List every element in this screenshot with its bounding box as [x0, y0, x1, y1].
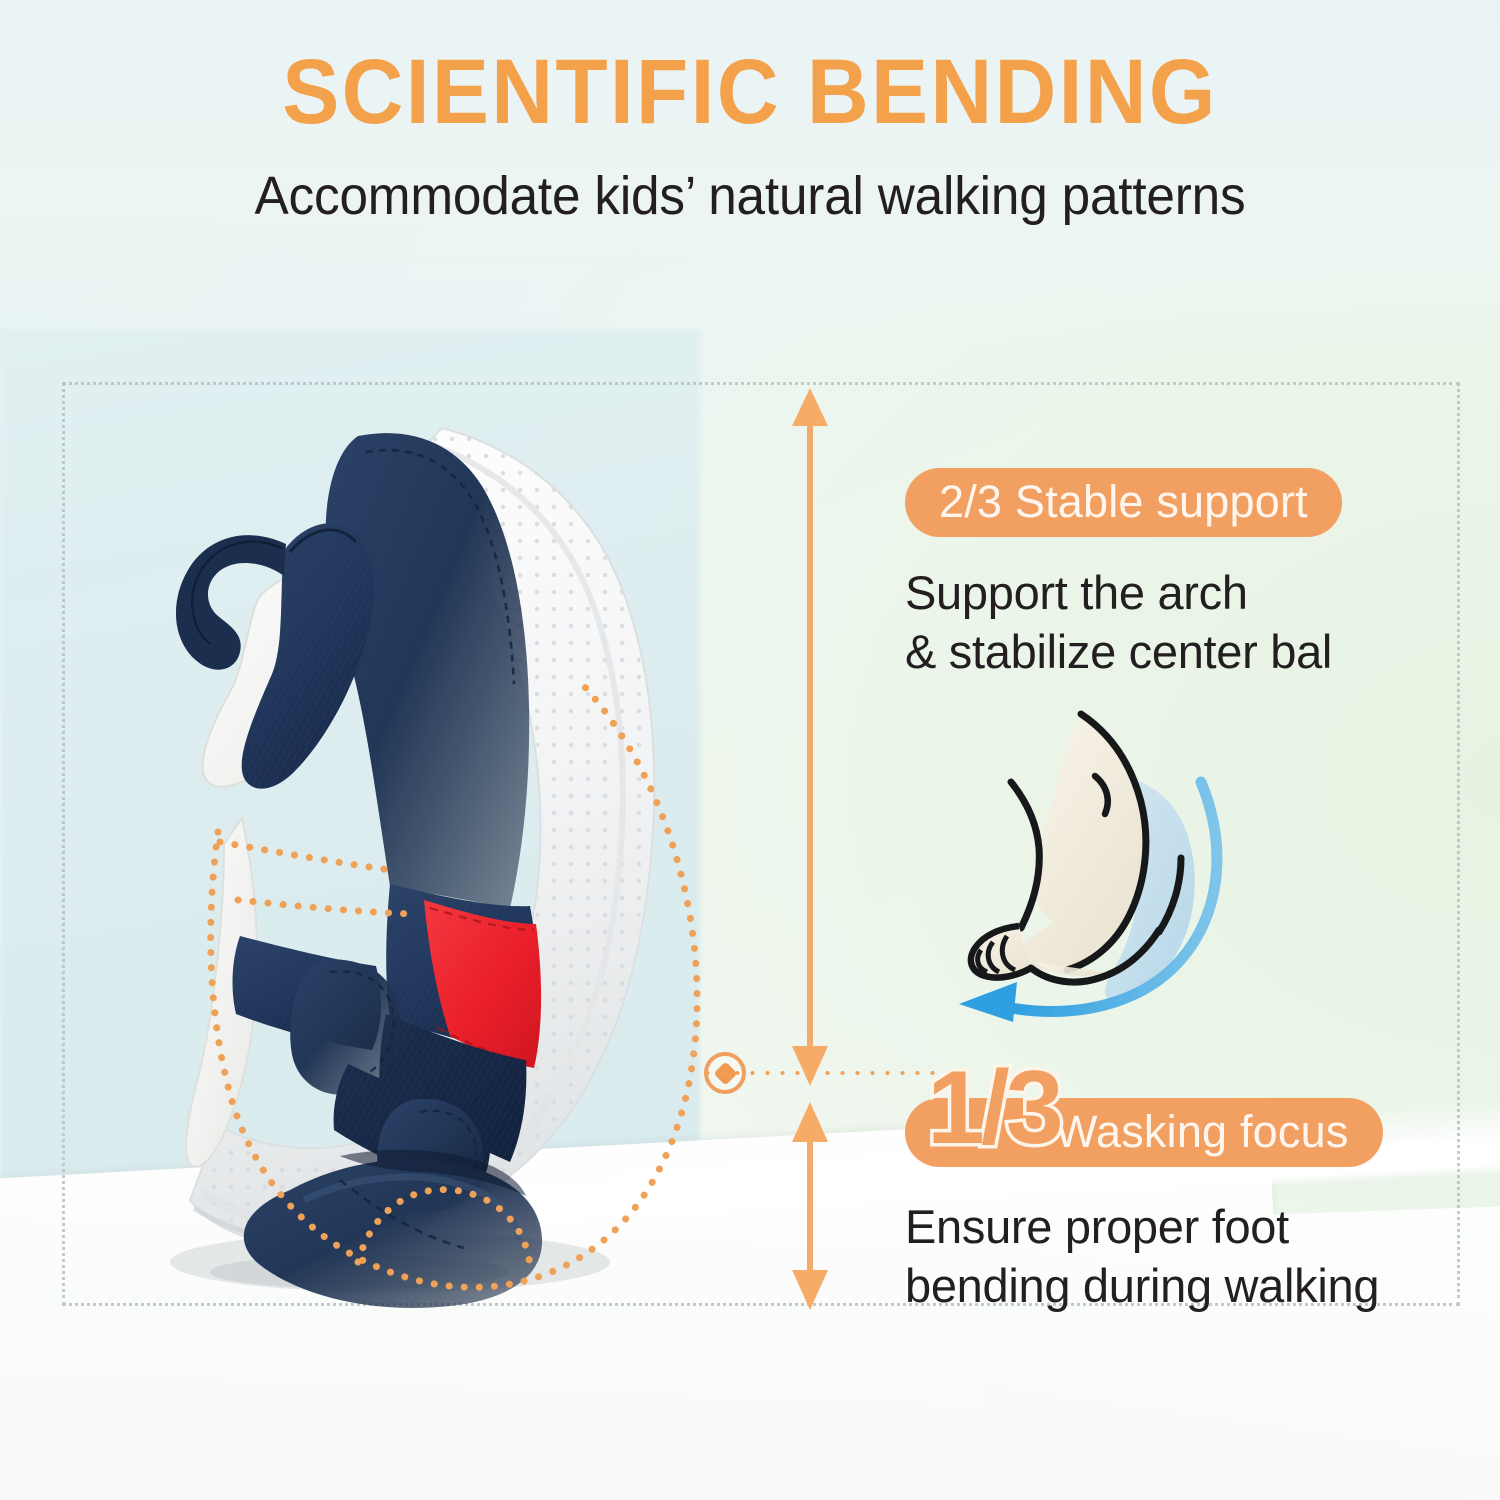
foot-illustration-svg — [935, 690, 1265, 1030]
page-subtitle: Accommodate kids’ natural walking patter… — [38, 168, 1463, 225]
section-stable-support: 2/3 Stable support Support the arch & st… — [905, 468, 1465, 681]
description-wasking-focus: Ensure proper foot bending during walkin… — [905, 1197, 1465, 1315]
measure-arrow-svg — [775, 386, 845, 1316]
one-third-measure-arrow — [792, 1102, 828, 1310]
badge-wasking-focus: 1/3 Wasking focus — [905, 1098, 1383, 1167]
sneaker-illustration — [90, 400, 790, 1330]
two-thirds-measure-arrow — [792, 388, 828, 1086]
description-stable-support: Support the arch & stabilize center bal — [905, 563, 1465, 681]
badge-fraction-one-third: 1/3 — [927, 1056, 1060, 1160]
section-wasking-focus: 1/3 Wasking focus Ensure proper foot ben… — [905, 1098, 1465, 1315]
measure-arrows — [775, 386, 845, 1316]
infographic-canvas: SCIENTIFIC BENDING Accommodate kids’ nat… — [0, 0, 1500, 1500]
foot-bending-diagram — [935, 690, 1265, 1030]
page-title: SCIENTIFIC BENDING — [53, 46, 1448, 140]
badge-wasking-focus-label: Wasking focus — [1055, 1106, 1349, 1157]
product-image-kids-sneaker — [90, 400, 790, 1330]
badge-stable-support: 2/3 Stable support — [905, 468, 1342, 537]
